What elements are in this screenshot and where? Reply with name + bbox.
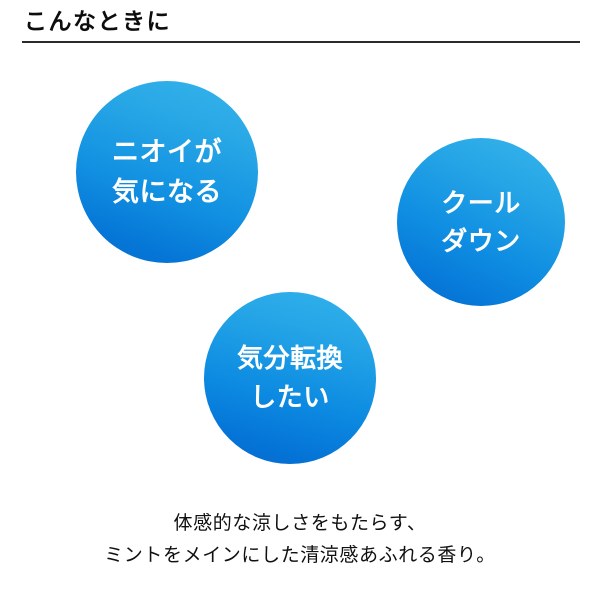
bubble-odor: ニオイが 気になる bbox=[76, 81, 258, 263]
bubble-odor-line1: ニオイが bbox=[112, 132, 222, 172]
bubble-cooldown-line2: ダウン bbox=[441, 222, 521, 260]
bubble-refresh: 気分転換 したい bbox=[204, 292, 376, 464]
header-divider bbox=[22, 41, 580, 43]
bubble-cooldown: クール ダウン bbox=[397, 138, 565, 306]
promo-panel: こんなときに ニオイが 気になる クール ダウン 気分転換 したい 体感的な涼し… bbox=[0, 0, 600, 600]
bubble-refresh-line1: 気分転換 bbox=[237, 339, 343, 378]
caption-line1: 体感的な涼しさをもたらす、 bbox=[0, 508, 600, 540]
bubble-cooldown-line1: クール bbox=[441, 184, 521, 222]
section-header: こんなときに bbox=[0, 0, 600, 48]
caption-block: 体感的な涼しさをもたらす、 ミントをメインにした清涼感あふれる香り。 bbox=[0, 508, 600, 572]
caption-line2: ミントをメインにした清涼感あふれる香り。 bbox=[0, 540, 600, 572]
page-title: こんなときに bbox=[24, 6, 171, 36]
bubble-odor-line2: 気になる bbox=[112, 172, 222, 212]
bubble-refresh-line2: したい bbox=[250, 378, 330, 417]
